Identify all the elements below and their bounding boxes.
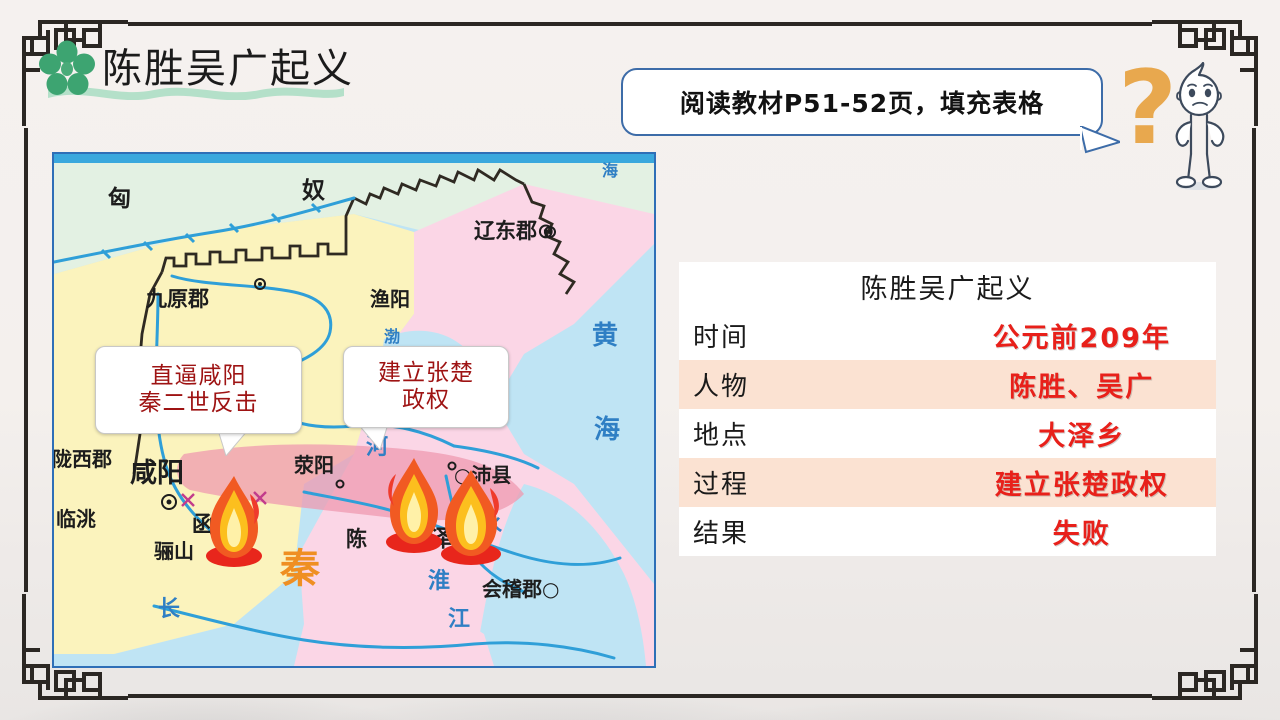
svg-text:海: 海: [602, 161, 618, 180]
svg-text:九原郡: 九原郡: [145, 287, 209, 311]
callout-establish-zhangchu: 建立张楚 政权: [343, 346, 509, 428]
callout-2-line-1: 建立张楚: [378, 360, 474, 387]
slide-canvas: 陈胜吴广起义 阅读教材P51-52页，填充表格 ?: [0, 0, 1280, 720]
row-label-result: 结果: [679, 507, 948, 556]
svg-text:咸阳: 咸阳: [130, 458, 184, 489]
svg-text:海: 海: [594, 415, 620, 445]
row-value-result: 失败: [948, 507, 1217, 556]
svg-text:陇西郡: 陇西郡: [54, 447, 112, 471]
instruction-speech-bubble: 阅读教材P51-52页，填充表格: [621, 68, 1103, 136]
svg-text:临洮: 临洮: [56, 507, 96, 531]
svg-text:陈: 陈: [346, 527, 367, 551]
clover-flower-icon: [38, 39, 96, 97]
svg-text:荥阳: 荥阳: [294, 453, 334, 477]
frame-line-bottom: [128, 694, 1152, 698]
svg-text:匈: 匈: [108, 185, 131, 212]
svg-text:长: 长: [158, 597, 181, 622]
fire-icon-dazexiang: [430, 466, 512, 566]
table-title-cell: 陈胜吴广起义: [679, 262, 1216, 311]
speech-bubble-tail: [1080, 126, 1120, 154]
callout-direct-attack-xianyang: 直逼咸阳 秦二世反击: [95, 346, 302, 434]
svg-text:淮: 淮: [428, 569, 450, 594]
svg-text:江: 江: [448, 607, 470, 632]
svg-text:辽东郡⊙: 辽东郡⊙: [474, 219, 555, 243]
frame-line-left: [24, 128, 28, 592]
callout-2-line-2: 政权: [402, 387, 450, 414]
svg-text:渔阳: 渔阳: [370, 287, 410, 311]
page-title: 陈胜吴广起义: [38, 30, 354, 100]
callout-1-line-2: 秦二世反击: [139, 390, 259, 417]
svg-text:会稽郡○: 会稽郡○: [482, 577, 559, 601]
table-row: 结果 失败: [679, 507, 1216, 556]
row-label-process: 过程: [679, 458, 948, 507]
fire-icon-xianyang: [196, 472, 272, 568]
page-title-text: 陈胜吴广起义: [102, 36, 354, 94]
table-row: 人物 陈胜、吴广: [679, 360, 1216, 409]
frame-line-top: [128, 22, 1152, 26]
frame-line-right: [1252, 128, 1256, 592]
row-label-people: 人物: [679, 360, 948, 409]
fret-corner-bottom-right-icon: [1152, 594, 1270, 712]
svg-text:渤: 渤: [384, 327, 400, 346]
row-value-people: 陈胜、吴广: [948, 360, 1217, 409]
row-label-time: 时间: [679, 311, 948, 360]
table-header-row: 陈胜吴广起义: [679, 262, 1216, 311]
table-row: 过程 建立张楚政权: [679, 458, 1216, 507]
row-value-process: 建立张楚政权: [948, 458, 1217, 507]
svg-text:奴: 奴: [301, 177, 325, 204]
table-row: 时间 公元前209年: [679, 311, 1216, 360]
instruction-text: 阅读教材P51-52页，填充表格: [680, 84, 1044, 120]
map-dynasty-label: 秦: [280, 546, 320, 592]
thinking-person-illustration: [1158, 62, 1240, 190]
callout-1-line-1: 直逼咸阳: [151, 363, 247, 390]
svg-text:黄: 黄: [592, 321, 618, 351]
table-row: 地点 大泽乡: [679, 409, 1216, 458]
svg-text:骊山: 骊山: [154, 539, 194, 563]
uprising-summary-table: 陈胜吴广起义 时间 公元前209年 人物 陈胜、吴广 地点 大泽乡 过程 建立张…: [679, 262, 1216, 556]
row-value-place: 大泽乡: [948, 409, 1217, 458]
row-value-time: 公元前209年: [948, 311, 1217, 360]
row-label-place: 地点: [679, 409, 948, 458]
